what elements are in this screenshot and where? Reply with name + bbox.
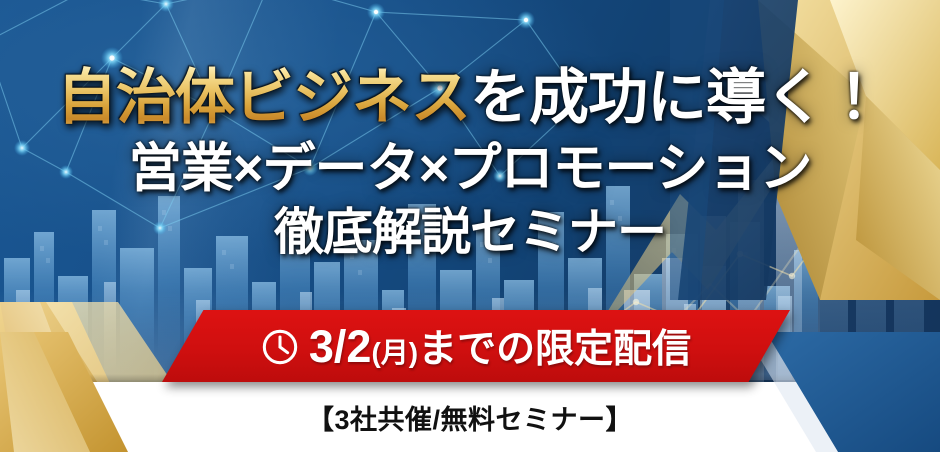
deadline-ribbon: 3/2(月)までの限定配信 [162, 310, 790, 382]
headline-line-3: 徹底解説セミナー [0, 207, 940, 257]
headline-line-1-white: を成功に導く！ [470, 64, 883, 131]
footer-text: 【3社共催/無料セミナー】 [0, 382, 940, 452]
ribbon-text: 3/2(月)までの限定配信 [309, 324, 691, 369]
headline-block: 自治体ビジネスを成功に導く！ 営業×データ×プロモーション 徹底解説セミナー [0, 0, 940, 257]
ribbon-suffix: までの限定配信 [418, 328, 691, 371]
ribbon-weekday: (月) [371, 337, 418, 368]
clock-icon [261, 328, 299, 366]
headline-line-2: 営業×データ×プロモーション [0, 142, 940, 195]
headline-line-1: 自治体ビジネスを成功に導く！ [0, 68, 940, 128]
ribbon-content: 3/2(月)までの限定配信 [162, 310, 790, 382]
ribbon-date: 3/2 [309, 321, 372, 372]
headline-line-1-gold: 自治体ビジネス [57, 64, 470, 131]
seminar-banner: 【3社共催/無料セミナー】 自治体ビジネスを成功に導く！ 営業×データ×プロモー… [0, 0, 940, 452]
